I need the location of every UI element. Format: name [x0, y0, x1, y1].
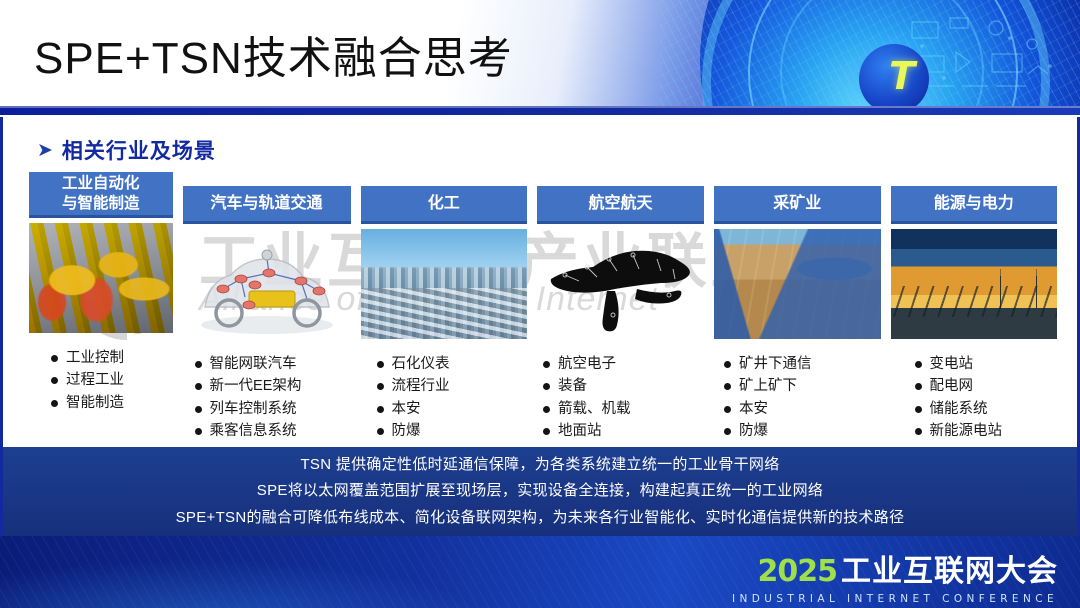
- mining-site-photo: [714, 229, 880, 339]
- card-header: 航空航天: [537, 186, 704, 224]
- industry-card-mining[interactable]: 采矿业 矿井下通信 矿上矿下 本安 防爆: [714, 172, 880, 484]
- connected-car-diagram: [183, 229, 351, 339]
- brand-name-en: INDUSTRIAL INTERNET CONFERENCE: [732, 593, 1058, 605]
- list-item: 过程工业: [51, 369, 173, 391]
- slide-header: T SPE+TSN技术融合思考: [0, 0, 1080, 115]
- list-item: 列车控制系统: [195, 398, 351, 420]
- brand-name-cn: 工业互联网大会: [841, 546, 1058, 590]
- list-item: 新一代EE架构: [195, 375, 351, 397]
- industry-card-chemical[interactable]: 化工 石化仪表 流程行业 本安 防爆: [361, 172, 527, 484]
- industry-card-aerospace[interactable]: 航空航天: [537, 172, 704, 484]
- wind-solar-power-photo: [891, 229, 1057, 339]
- list-item: 配电网: [915, 375, 1057, 397]
- petrochemical-plant-photo: [361, 229, 527, 339]
- brand-year: 2025: [758, 554, 838, 589]
- list-item: 智能制造: [51, 392, 173, 414]
- conference-brand: 2025 工业互联网大会 INDUSTRIAL INTERNET CONFERE…: [732, 546, 1058, 605]
- card-image: [361, 229, 527, 339]
- arrow-bullet-icon: ➤: [37, 141, 53, 160]
- card-image: [714, 229, 880, 339]
- list-item: 新能源电站: [915, 420, 1057, 442]
- card-header: 化工: [361, 186, 527, 224]
- summary-panel: TSN 提供确定性低时延通信保障，为各类系统建立统一的工业骨干网络 SPE将以太…: [3, 447, 1077, 536]
- card-item-list: 智能网联汽车 新一代EE架构 列车控制系统 乘客信息系统: [183, 353, 351, 443]
- summary-line: SPE+TSN的融合可降低布线成本、简化设备联网架构，为未来各行业智能化、实时化…: [176, 506, 905, 530]
- list-item: 装备: [543, 375, 704, 397]
- section-heading: ➤ 相关行业及场景: [37, 135, 216, 165]
- industry-card-industrial-automation[interactable]: 工业自动化 与智能制造 工业控制 过程工业 智能制造: [29, 172, 173, 484]
- card-item-list: 石化仪表 流程行业 本安 防爆: [361, 353, 527, 443]
- card-header: 采矿业: [714, 186, 880, 224]
- card-image: [183, 229, 351, 339]
- list-item: 防爆: [724, 420, 880, 442]
- card-header-line2: 与智能制造: [62, 195, 140, 212]
- section-title: 相关行业及场景: [62, 135, 216, 165]
- list-item: 变电站: [915, 353, 1057, 375]
- list-item: 乘客信息系统: [195, 420, 351, 442]
- card-header: 能源与电力: [891, 186, 1057, 224]
- aircraft-silhouette: [537, 229, 704, 339]
- list-item: 箭载、机载: [543, 398, 704, 420]
- list-item: 本安: [724, 398, 880, 420]
- list-item: 智能网联汽车: [195, 353, 351, 375]
- card-image: [29, 223, 173, 333]
- card-item-list: 变电站 配电网 储能系统 新能源电站: [891, 353, 1057, 443]
- card-header-line1: 工业自动化: [62, 175, 140, 192]
- card-header: 工业自动化 与智能制造: [29, 172, 173, 218]
- list-item: 航空电子: [543, 353, 704, 375]
- list-item: 石化仪表: [377, 353, 527, 375]
- card-item-list: 航空电子 装备 箭载、机载 地面站: [537, 353, 704, 443]
- summary-line: TSN 提供确定性低时延通信保障，为各类系统建立统一的工业骨干网络: [300, 453, 779, 477]
- card-image: [891, 229, 1057, 339]
- card-header: 汽车与轨道交通: [183, 186, 351, 224]
- list-item: 矿上矿下: [724, 375, 880, 397]
- industrial-robots-photo: [29, 223, 173, 333]
- list-item: 防爆: [377, 420, 527, 442]
- list-item: 储能系统: [915, 398, 1057, 420]
- list-item: 工业控制: [51, 347, 173, 369]
- card-item-list: 矿井下通信 矿上矿下 本安 防爆: [714, 353, 880, 443]
- slide: T SPE+TSN技术融合思考 工业互联网产业联盟 Alliance of In…: [0, 0, 1080, 608]
- industry-card-energy-power[interactable]: 能源与电力 变电站 配电网 储能系统 新能源电站: [891, 172, 1057, 484]
- list-item: 本安: [377, 398, 527, 420]
- list-item: 流程行业: [377, 375, 527, 397]
- card-item-list: 工业控制 过程工业 智能制造: [29, 347, 173, 414]
- emblem-letter: T: [889, 54, 912, 98]
- list-item: 矿井下通信: [724, 353, 880, 375]
- list-item: 地面站: [543, 420, 704, 442]
- summary-line: SPE将以太网覆盖范围扩展至现场层，实现设备全连接，构建起真正统一的工业网络: [257, 479, 823, 503]
- header-divider-highlight: [0, 106, 1080, 108]
- card-image: [537, 229, 704, 339]
- industry-card-grid: 工业自动化 与智能制造 工业控制 过程工业 智能制造 汽车与轨道交通: [29, 172, 1057, 484]
- industry-card-automotive-rail[interactable]: 汽车与轨道交通: [183, 172, 351, 484]
- page-title: SPE+TSN技术融合思考: [34, 22, 513, 86]
- slide-footer: 2025 工业互联网大会 INDUSTRIAL INTERNET CONFERE…: [0, 536, 1080, 608]
